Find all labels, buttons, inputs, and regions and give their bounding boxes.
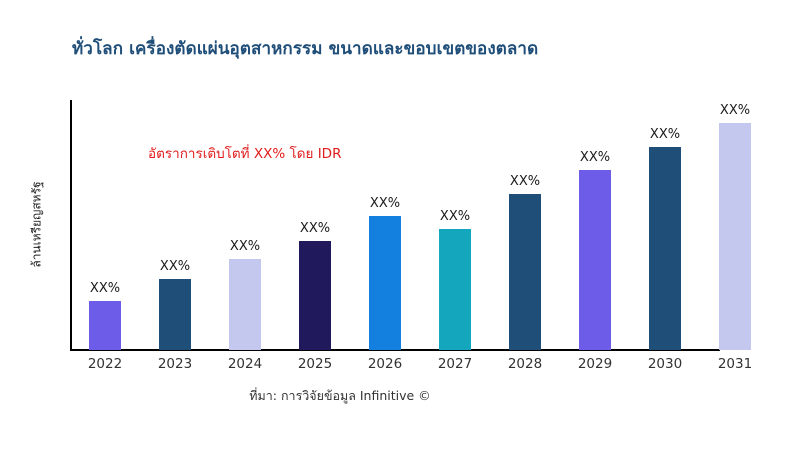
bar-value-label: XX%	[580, 150, 610, 165]
bar-group: XX%	[350, 100, 420, 350]
bar-2025[interactable]	[299, 241, 331, 350]
x-tick-2023: 2023	[140, 356, 210, 372]
bar-group: XX%	[140, 100, 210, 350]
x-tick-2026: 2026	[350, 356, 420, 372]
bar-value-label: XX%	[230, 239, 260, 254]
source-note: ที่มา: การวิจัยข้อมูล Infinitive ©	[0, 386, 680, 406]
bar-value-label: XX%	[650, 127, 680, 142]
y-axis-label: ล้านเหรียญสหรัฐ	[28, 181, 47, 267]
bar-group: XX%	[700, 100, 770, 350]
x-tick-2027: 2027	[420, 356, 490, 372]
bar-group: XX%	[210, 100, 280, 350]
bar-value-label: XX%	[370, 196, 400, 211]
y-axis-label-container: ล้านเหรียญสหรัฐ	[26, 100, 48, 348]
bar-group: XX%	[490, 100, 560, 350]
bar-2023[interactable]	[159, 279, 191, 350]
bar-value-label: XX%	[440, 209, 470, 224]
x-tick-2025: 2025	[280, 356, 350, 372]
bar-group: XX%	[70, 100, 140, 350]
bar-2030[interactable]	[649, 147, 681, 350]
bar-value-label: XX%	[510, 174, 540, 189]
bar-group: XX%	[630, 100, 700, 350]
x-tick-2022: 2022	[70, 356, 140, 372]
bars-layer: XX%XX%XX%XX%XX%XX%XX%XX%XX%XX%	[70, 100, 790, 350]
bar-2026[interactable]	[369, 216, 401, 350]
bar-group: XX%	[280, 100, 350, 350]
x-tick-2024: 2024	[210, 356, 280, 372]
bar-group: XX%	[560, 100, 630, 350]
x-tick-2028: 2028	[490, 356, 560, 372]
bar-2029[interactable]	[579, 170, 611, 350]
bar-2027[interactable]	[439, 229, 471, 350]
bar-chart-figure: ทั่วโลก เครื่องตัดแผ่นอุตสาหกรรม ขนาดและ…	[0, 0, 800, 450]
bar-2028[interactable]	[509, 194, 541, 350]
bar-group: XX%	[420, 100, 490, 350]
x-axis-tick-labels: 2022202320242025202620272028202920302031	[70, 356, 790, 378]
growth-rate-annotation: อัตราการเติบโตที่ XX% โดย IDR	[148, 142, 341, 164]
bar-value-label: XX%	[160, 259, 190, 274]
bar-value-label: XX%	[720, 103, 750, 118]
bar-value-label: XX%	[90, 281, 120, 296]
bar-2022[interactable]	[89, 301, 121, 350]
bar-value-label: XX%	[300, 221, 330, 236]
bar-2024[interactable]	[229, 259, 261, 350]
chart-title: ทั่วโลก เครื่องตัดแผ่นอุตสาหกรรม ขนาดและ…	[72, 38, 732, 60]
x-tick-2031: 2031	[700, 356, 770, 372]
x-tick-2029: 2029	[560, 356, 630, 372]
x-tick-2030: 2030	[630, 356, 700, 372]
bar-2031[interactable]	[719, 123, 751, 350]
